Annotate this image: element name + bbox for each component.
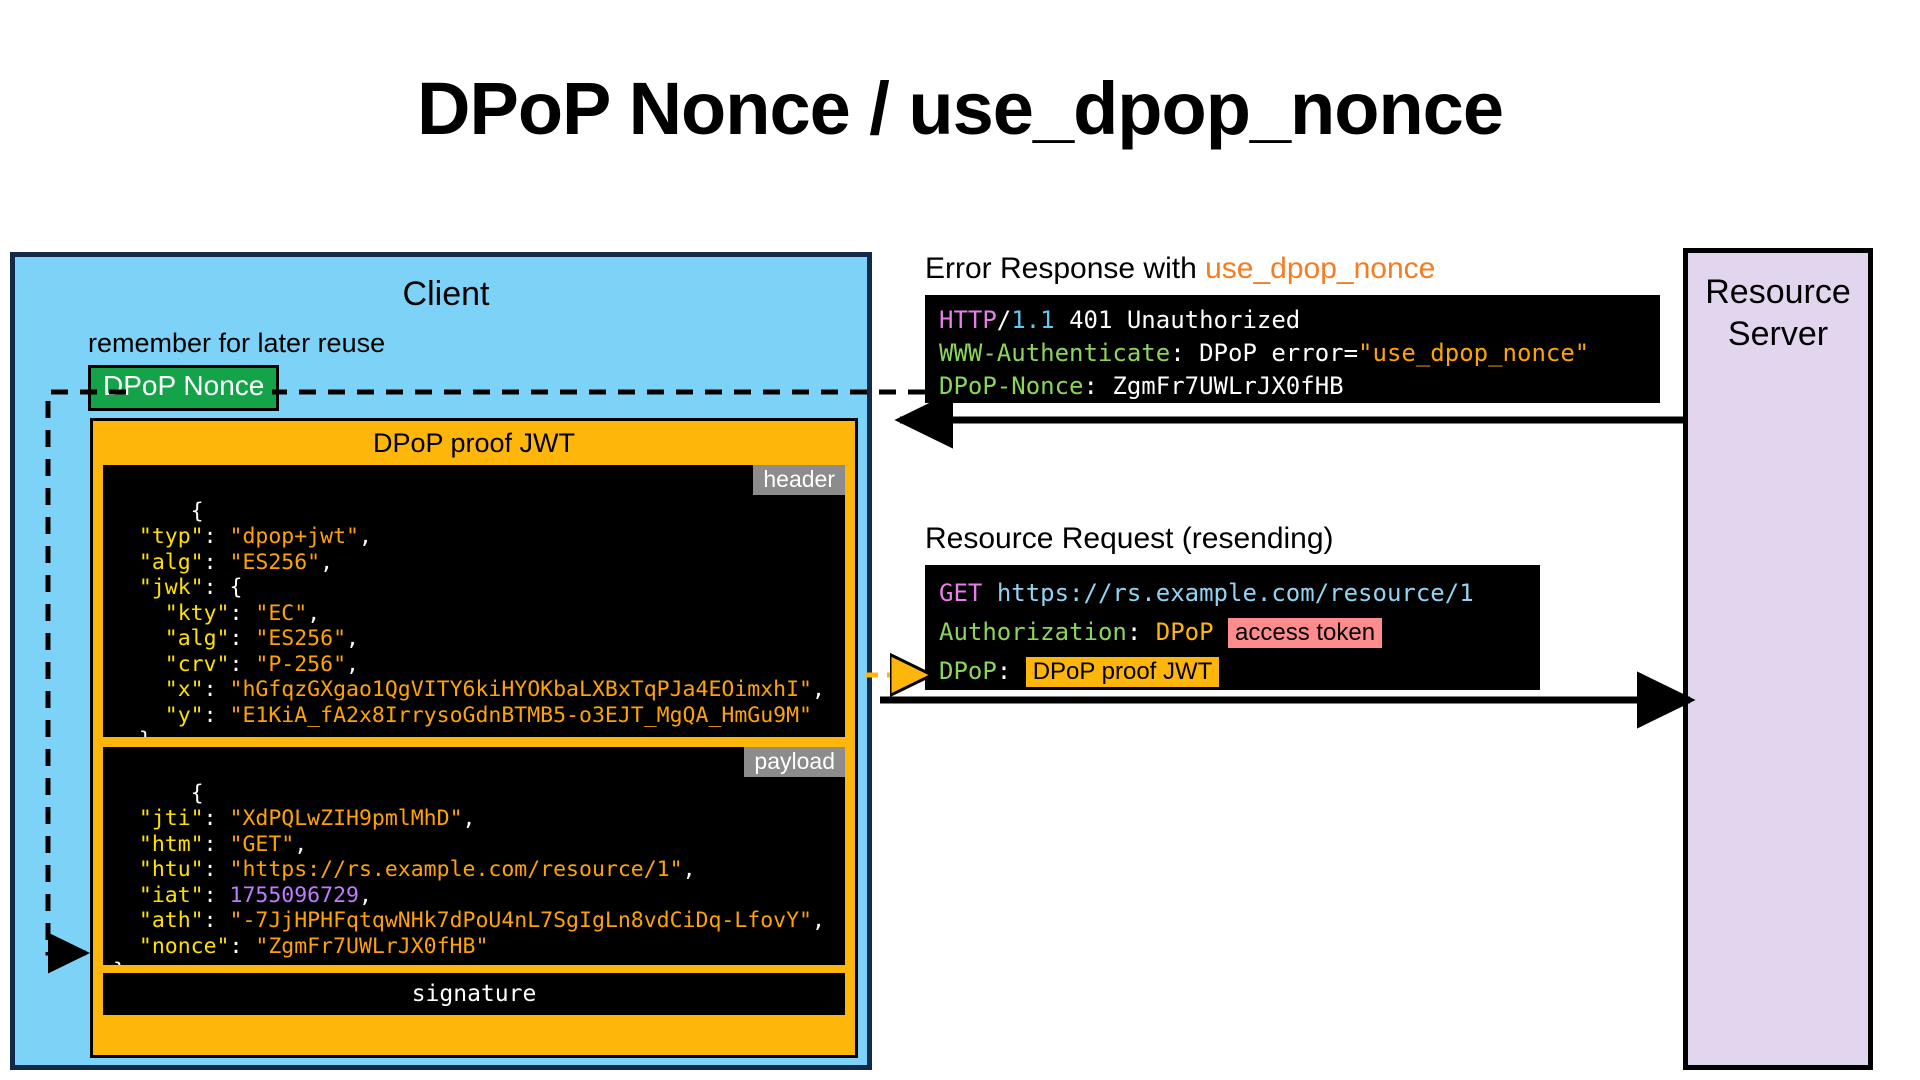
error-response-label-prefix: Error Response with xyxy=(925,252,1205,285)
dpop-nonce-badge: DPoP Nonce xyxy=(88,365,279,411)
www-authenticate-name: WWW-Authenticate xyxy=(939,339,1170,367)
error-response-block: HTTP/1.1 401 Unauthorized WWW-Authentica… xyxy=(925,295,1660,403)
request-url: https://rs.example.com/resource/1 xyxy=(997,579,1474,607)
crv-value: "P-256" xyxy=(255,652,346,677)
client-title: Client xyxy=(15,275,877,314)
jwt-payload-pane: payload{ "jti": "XdPQLwZIH9pmlMhD", "htm… xyxy=(103,747,845,965)
iat-value: 1755096729 xyxy=(230,883,359,908)
nonce-value: "ZgmFr7UWLrJX0fHB" xyxy=(255,934,488,959)
resource-server-line2: Server xyxy=(1728,315,1828,353)
dpop-nonce-header-value: ZgmFr7UWLrJX0fHB xyxy=(1112,372,1343,400)
http-proto: HTTP xyxy=(939,306,997,334)
access-token-badge: access token xyxy=(1228,618,1382,648)
dpop-proof-jwt-badge: DPoP proof JWT xyxy=(1026,657,1220,687)
dpop-proof-jwt-card: DPoP proof JWT header{ "typ": "dpop+jwt"… xyxy=(90,418,858,1058)
www-authenticate-scheme: DPoP xyxy=(1199,339,1257,367)
error-response-label-accent: use_dpop_nonce xyxy=(1205,252,1435,285)
jti-value: "XdPQLwZIH9pmlMhD" xyxy=(230,806,463,831)
htu-value: "https://rs.example.com/resource/1" xyxy=(230,857,683,882)
dpop-header-name: DPoP xyxy=(939,657,997,685)
page-title: DPoP Nonce / use_dpop_nonce xyxy=(0,66,1920,151)
alg-value: "ES256" xyxy=(230,550,321,575)
payload-tag: payload xyxy=(744,747,845,777)
kty-value: "EC" xyxy=(255,601,307,626)
resource-server-line1: Resource xyxy=(1705,273,1851,311)
authorization-header-name: Authorization xyxy=(939,618,1127,646)
resource-request-block: GET https://rs.example.com/resource/1 Au… xyxy=(925,565,1540,690)
jwt-header-pane: header{ "typ": "dpop+jwt", "alg": "ES256… xyxy=(103,465,845,737)
dpop-nonce-header-name: DPoP-Nonce xyxy=(939,372,1084,400)
http-status-text: 401 Unauthorized xyxy=(1069,306,1300,334)
y-value: "E1KiA_fA2x8IrrysoGdnBTMB5-o3EJT_MgQA_Hm… xyxy=(230,703,812,728)
authorization-scheme: DPoP xyxy=(1156,618,1214,646)
typ-value: "dpop+jwt" xyxy=(230,524,359,549)
error-response-label: Error Response with use_dpop_nonce xyxy=(925,252,1435,286)
resource-request-label: Resource Request (resending) xyxy=(925,522,1334,556)
remember-note: remember for later reuse xyxy=(88,328,385,359)
www-authenticate-param: error= xyxy=(1271,339,1358,367)
resource-server-title: ResourceServer xyxy=(1688,271,1868,355)
www-authenticate-value: "use_dpop_nonce" xyxy=(1358,339,1589,367)
htm-value: "GET" xyxy=(230,832,295,857)
jwk-alg-value: "ES256" xyxy=(255,626,346,651)
x-value: "hGfqzGXgao1QgVITY6kiHYOKbaLXBxTqPJa4EOi… xyxy=(230,677,812,702)
http-version: 1.1 xyxy=(1011,306,1054,334)
resource-server-panel: ResourceServer xyxy=(1683,248,1873,1070)
ath-value: "-7JjHPHFqtqwNHk7dPoU4nL7SgIgLn8vdCiDq-L… xyxy=(230,908,812,933)
request-method: GET xyxy=(939,579,982,607)
jwt-signature-pane: signature xyxy=(103,973,845,1015)
header-tag: header xyxy=(753,465,845,495)
jwt-card-title: DPoP proof JWT xyxy=(93,421,855,465)
